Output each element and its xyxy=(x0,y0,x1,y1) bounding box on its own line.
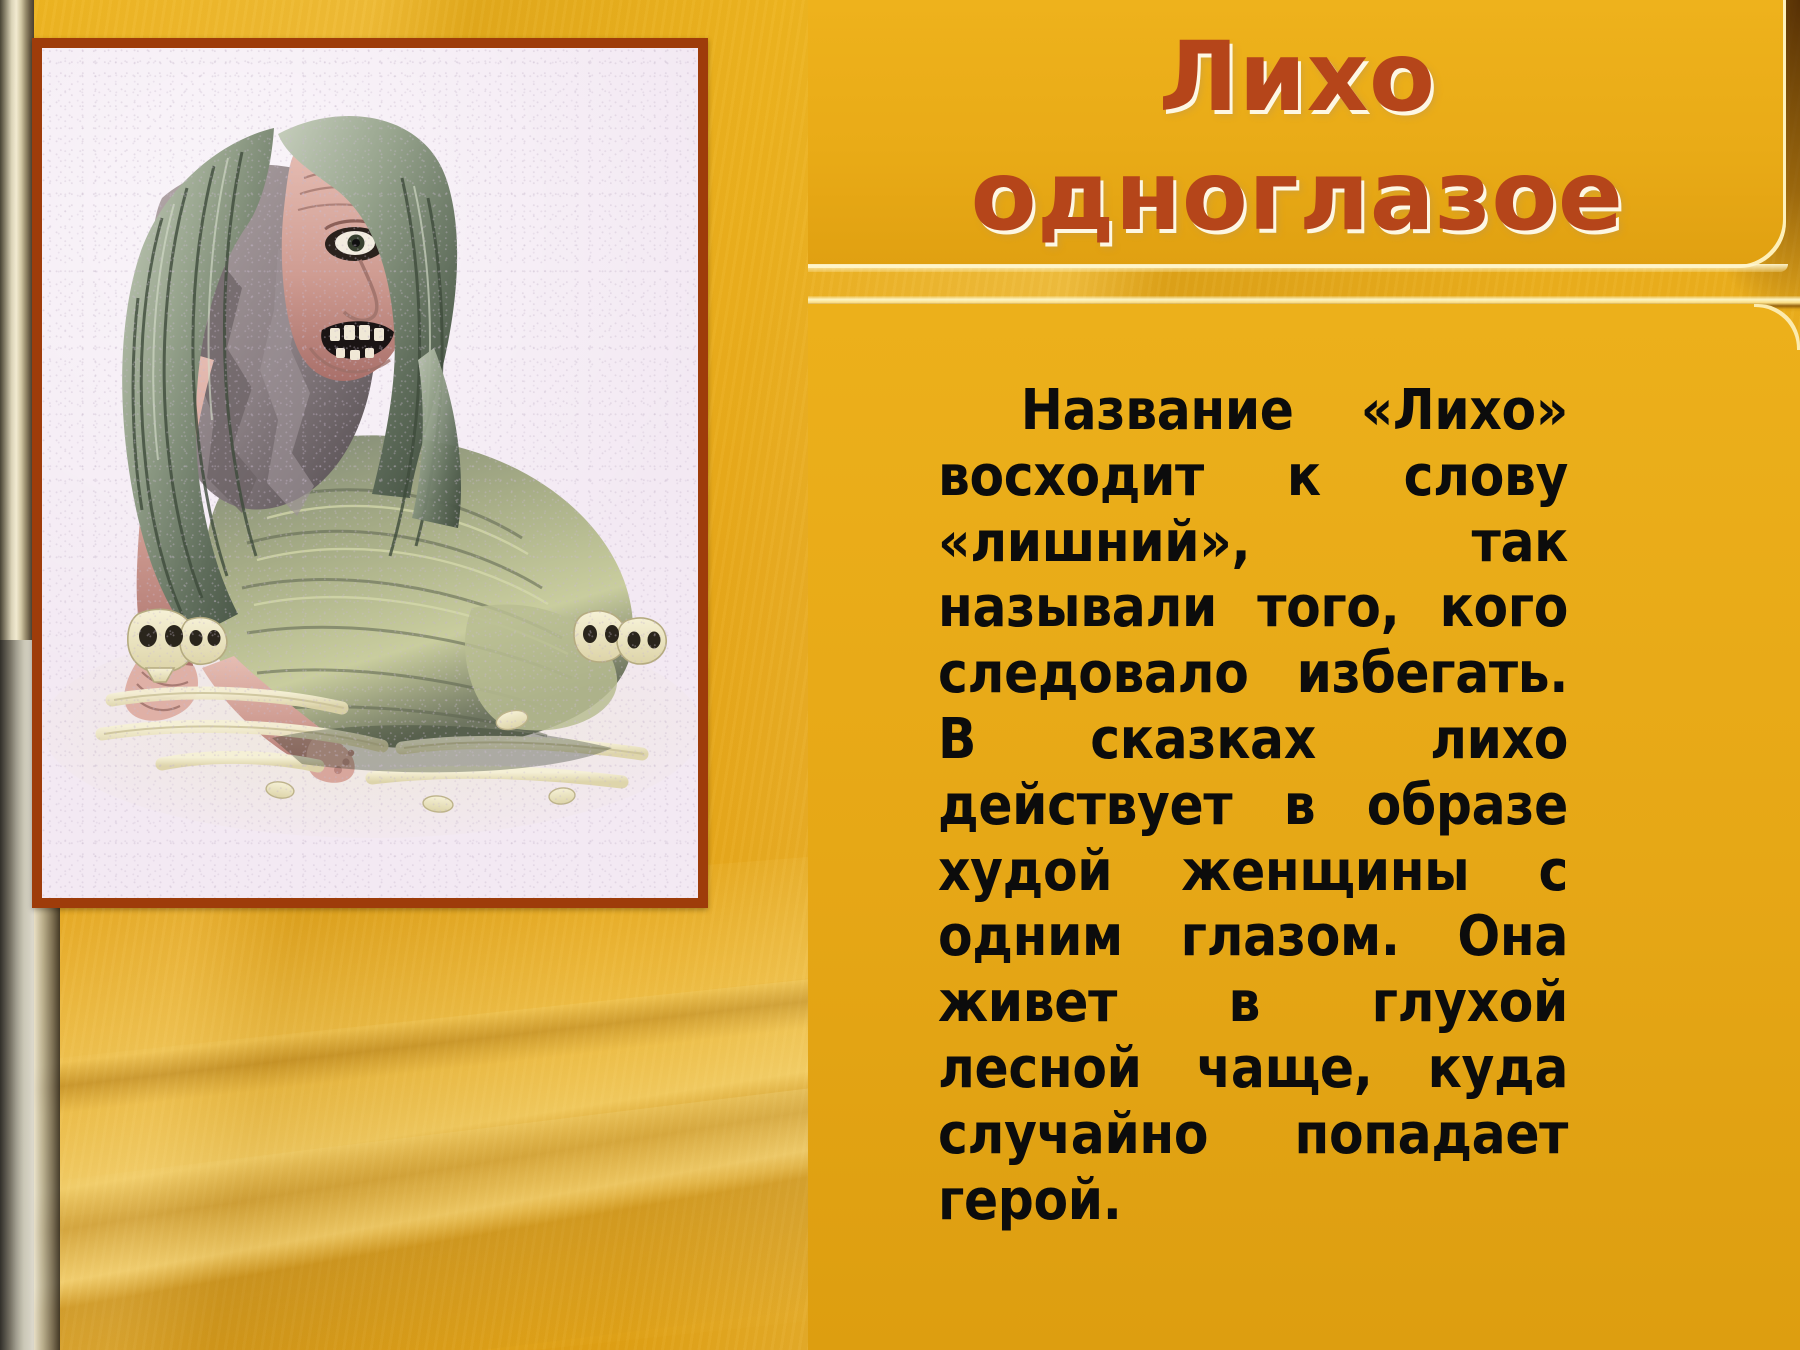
illustration-paper-texture xyxy=(42,48,698,898)
slide-title: Лихо одноглазое xyxy=(808,18,1786,256)
illustration-frame xyxy=(32,38,708,908)
slide: Лихо одноглазое Название «Лихо» восходит… xyxy=(0,0,1800,1350)
title-panel: Лихо одноглазое xyxy=(808,0,1786,268)
body-paragraph: Название «Лихо» восходит к слову «лишний… xyxy=(938,378,1568,1299)
content-panel: Название «Лихо» восходит к слову «лишний… xyxy=(808,304,1800,1350)
